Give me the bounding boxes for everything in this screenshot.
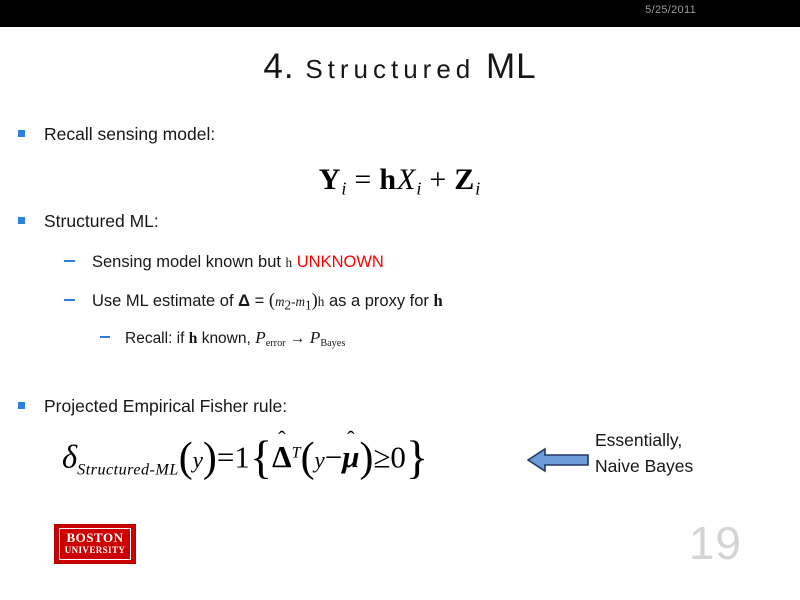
subsubbullet-recall-h-known: Recall: if h known, Perror → PBayes xyxy=(100,328,345,349)
subsubbullet-lead: Recall: if xyxy=(125,330,184,347)
eq-paren-close-2: ) xyxy=(359,435,373,481)
symbol-m1-sub: 1 xyxy=(305,298,312,313)
page-number: 19 xyxy=(689,516,742,570)
eq-indicator-one: 1 xyxy=(234,439,250,474)
logo-line-2: UNIVERSITY xyxy=(65,545,126,556)
title-suffix: ML xyxy=(486,47,537,86)
symbol-p-bayes: P xyxy=(310,328,321,347)
eq-zero: 0 xyxy=(390,439,406,474)
subbullet-tail: as a proxy for xyxy=(329,292,429,310)
eq-y: y xyxy=(315,447,325,472)
symbol-p-bayes-sub: Bayes xyxy=(320,338,345,349)
arrow-left-shape xyxy=(527,447,589,473)
eq-paren-open-2: ( xyxy=(301,435,315,481)
symbol-m2: m xyxy=(275,294,285,309)
eq-delta: δ xyxy=(62,439,77,475)
eq-lhs-sub: i xyxy=(341,178,347,198)
callout-naive-bayes: Essentially, Naive Bayes xyxy=(595,427,693,479)
bullet-recall-sensing-model: Recall sensing model: xyxy=(18,124,215,145)
emphasis-unknown: UNKNOWN xyxy=(297,253,384,271)
bullet-structured-ml: Structured ML: xyxy=(18,211,159,232)
eq-transpose: T xyxy=(292,444,301,461)
eq-equals: = xyxy=(217,439,234,474)
symbol-h: h xyxy=(286,255,293,270)
symbol-equals: = xyxy=(255,292,265,310)
eq-plus: + xyxy=(429,163,447,196)
symbol-h-bold: h xyxy=(434,291,443,310)
square-bullet-icon xyxy=(18,130,25,137)
symbol-delta: Δ xyxy=(238,292,250,310)
eq-brace-close: } xyxy=(406,433,428,484)
page-title: 4. Structured ML xyxy=(0,47,800,87)
bullet-projected-fisher-rule: Projected Empirical Fisher rule: xyxy=(18,396,287,417)
eq-minus: − xyxy=(325,439,342,474)
eq-geq: ≥ xyxy=(373,439,390,474)
title-number: 4. xyxy=(263,47,294,86)
square-bullet-icon xyxy=(18,402,25,409)
eq-gain: h xyxy=(379,163,397,196)
bullet-label: Recall sensing model: xyxy=(44,124,215,144)
eq-brace-open: { xyxy=(250,433,272,484)
eq-paren-open-1: ( xyxy=(179,435,193,481)
logo-inner-frame: BOSTON UNIVERSITY xyxy=(59,528,132,560)
eq-hat-delta-accent: ˆ xyxy=(278,428,285,450)
dash-bullet-icon xyxy=(64,299,75,301)
symbol-h-bold: h xyxy=(189,330,198,347)
eq-delta-subscript: Structured-ML xyxy=(77,462,179,479)
equation-structured-ml-rule: δStructured-ML(y)=1{ˆΔT(y−ˆμ)≥0} xyxy=(62,432,428,485)
eq-noise-sub: i xyxy=(475,178,481,198)
callout-line-1: Essentially, xyxy=(595,427,693,453)
eq-noise: Z xyxy=(454,163,475,196)
callout-line-2: Naive Bayes xyxy=(595,453,693,479)
arrow-right-icon: → xyxy=(290,330,306,347)
eq-paren-close-1: ) xyxy=(203,435,217,481)
dash-bullet-icon xyxy=(64,260,75,262)
eq-x-sub: i xyxy=(416,178,422,198)
dash-bullet-icon xyxy=(100,336,110,338)
boston-university-logo: BOSTON UNIVERSITY xyxy=(54,524,136,564)
subbullet-model-known-h-unknown: Sensing model known but h UNKNOWN xyxy=(64,253,384,272)
subbullet-lead: Use ML estimate of xyxy=(92,292,234,310)
symbol-h: h xyxy=(318,294,325,309)
eq-x: X xyxy=(397,163,416,196)
eq-equals: = xyxy=(354,163,372,196)
equation-sensing-model: Yi=hXi+Zi xyxy=(0,163,800,199)
symbol-p-error: P xyxy=(255,328,266,347)
symbol-m1: m xyxy=(296,294,306,309)
eq-hat-mu-accent: ˆ xyxy=(347,428,354,450)
eq-lhs: Y xyxy=(319,163,342,196)
header-date: 5/25/2011 xyxy=(645,4,696,16)
bullet-label: Projected Empirical Fisher rule: xyxy=(44,396,287,416)
title-word: Structured xyxy=(305,54,475,84)
bullet-label: Structured ML: xyxy=(44,211,159,231)
subbullet-lead: Sensing model known but xyxy=(92,253,281,271)
eq-arg-y: y xyxy=(193,447,203,472)
arrow-left-icon xyxy=(527,447,589,478)
subsubbullet-middle: known, xyxy=(202,330,251,347)
symbol-p-error-sub: error xyxy=(266,338,286,349)
slide-canvas: 5/25/2011 4. Structured ML Recall sensin… xyxy=(0,0,800,600)
subbullet-ml-estimate-delta: Use ML estimate of Δ = (m2-m1)h as a pro… xyxy=(64,290,443,314)
logo-line-1: BOSTON xyxy=(65,531,126,545)
square-bullet-icon xyxy=(18,217,25,224)
